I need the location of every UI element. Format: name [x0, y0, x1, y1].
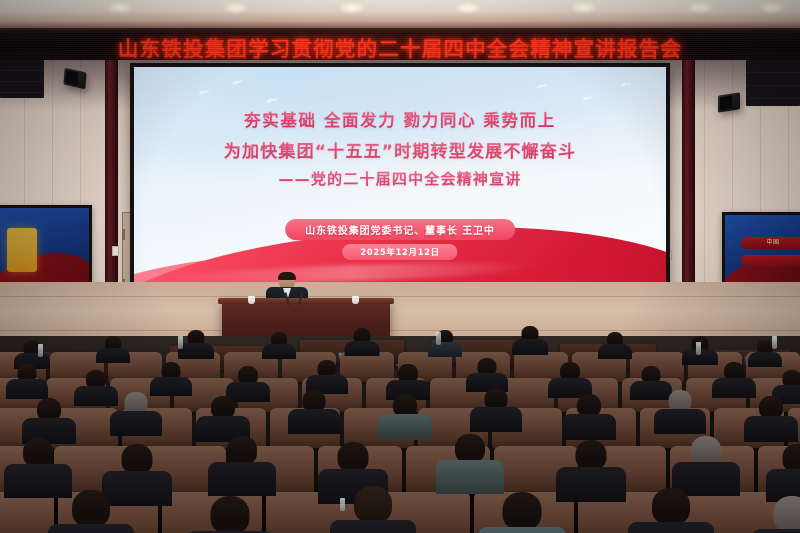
- ceiling-light: [759, 2, 785, 13]
- attendee-head: [23, 438, 53, 467]
- attendee-head: [783, 444, 800, 472]
- side-display-right-label-2: [741, 255, 800, 267]
- ceiling-light: [571, 2, 597, 13]
- attendee-head: [576, 440, 607, 470]
- attendee: [470, 388, 522, 435]
- attendee-shoulders: [178, 343, 214, 359]
- wall-speaker-right: [718, 92, 740, 112]
- dove-icon: [266, 97, 278, 104]
- attendee-shoulders: [96, 348, 130, 363]
- side-display-left-emblem: [7, 228, 37, 272]
- attendee: [110, 392, 162, 439]
- attendee-shoulders: [598, 344, 632, 359]
- attendee: [562, 394, 616, 443]
- ceiling-light: [107, 2, 133, 13]
- attendee-head: [72, 490, 110, 527]
- attendee: [48, 490, 134, 533]
- attendee-head: [691, 436, 721, 465]
- attendee: [186, 496, 274, 533]
- ceiling-light: [687, 2, 713, 13]
- ceiling-grille-left: [0, 60, 44, 98]
- attendee: [178, 330, 214, 362]
- side-display-right-label-1: 中国: [741, 237, 800, 249]
- stage-seam: [0, 296, 800, 297]
- ceiling-grille-right: [746, 60, 800, 106]
- attendee-shoulders: [470, 407, 522, 432]
- attendee-head: [503, 492, 542, 530]
- ceiling-light: [455, 2, 481, 13]
- attendee-shoulders: [478, 527, 566, 533]
- light-switch-left[interactable]: [112, 246, 119, 256]
- attendee: [556, 440, 626, 505]
- attendee-head: [652, 488, 690, 525]
- water-cup: [248, 296, 255, 304]
- dove-icon: [620, 81, 632, 88]
- attendee-shoulders: [330, 520, 416, 533]
- attendee: [436, 434, 504, 497]
- water-bottle: [772, 336, 777, 349]
- attendee: [752, 496, 800, 533]
- attendee-shoulders: [712, 378, 756, 398]
- attendee-shoulders: [262, 344, 296, 359]
- water-bottle: [178, 336, 183, 349]
- presenter-hair: [278, 272, 296, 280]
- attendee-shoulders: [288, 409, 340, 434]
- door-hinge: [122, 229, 125, 240]
- attendee: [512, 326, 548, 358]
- water-bottle: [436, 332, 441, 345]
- projection-screen: 夯实基础 全面发力 勠力同心 乘势而上 为加快集团“十五五”时期转型发展不懈奋斗…: [134, 67, 666, 287]
- ceiling-light: [339, 2, 365, 13]
- slide-speaker-credit: 山东铁投集团党委书记、董事长 王卫中: [285, 219, 515, 240]
- attendee: [96, 336, 130, 366]
- attendee-shoulders: [654, 409, 706, 434]
- attendee: [288, 390, 340, 437]
- slide-line-1: 夯实基础 全面发力 勠力同心 乘势而上: [134, 107, 666, 131]
- attendee-shoulders: [110, 411, 162, 436]
- attendee: [478, 492, 566, 533]
- attendee-shoulders: [436, 460, 504, 494]
- attendee-shoulders: [378, 414, 432, 440]
- dove-icon: [232, 79, 244, 86]
- led-banner-text: 山东铁投集团学习贯彻党的二十届四中全会精神宣讲报告会: [0, 32, 800, 62]
- dove-icon: [582, 95, 594, 102]
- attendee: [744, 396, 798, 445]
- dove-icon: [198, 89, 210, 96]
- attendee: [378, 394, 432, 443]
- slide-line-2: 为加快集团“十五五”时期转型发展不懈奋斗: [134, 137, 666, 162]
- water-bottle: [696, 342, 701, 355]
- dove-icon: [536, 83, 548, 90]
- attendee-head: [227, 436, 257, 465]
- slide-title-block: 夯实基础 全面发力 勠力同心 乘势而上 为加快集团“十五五”时期转型发展不懈奋斗…: [134, 107, 666, 189]
- attendee-shoulders: [744, 416, 798, 442]
- ceiling-light: [223, 2, 249, 13]
- slide-line-3: ——党的二十届四中全会精神宣讲: [134, 168, 666, 189]
- attendee-shoulders: [628, 522, 714, 533]
- water-cup: [352, 296, 359, 304]
- attendee: [208, 436, 276, 499]
- projection-screen-frame: 夯实基础 全面发力 勠力同心 乘势而上 为加快集团“十五五”时期转型发展不懈奋斗…: [130, 63, 670, 291]
- attendee-shoulders: [562, 414, 616, 440]
- stage-seam: [0, 330, 800, 331]
- attendee-head: [211, 496, 250, 533]
- attendee-head: [338, 442, 369, 472]
- attendee: [628, 488, 714, 533]
- attendee: [428, 330, 462, 360]
- attendee: [344, 328, 379, 359]
- water-bottle: [38, 344, 43, 357]
- led-banner: 山东铁投集团学习贯彻党的二十届四中全会精神宣讲报告会: [0, 32, 800, 62]
- attendee-shoulders: [512, 339, 548, 355]
- attendee-shoulders: [48, 524, 134, 533]
- attendee-head: [455, 434, 485, 463]
- attendee-shoulders: [344, 341, 379, 356]
- podium-desktop-edge: [218, 298, 394, 304]
- conference-hall-scene: 山东铁投集团学习贯彻党的二十届四中全会精神宣讲报告会 中国: [0, 0, 800, 533]
- slide-date: 2025年12月12日: [342, 244, 457, 260]
- attendee-head: [122, 444, 153, 474]
- attendee-shoulders: [556, 467, 626, 502]
- attendee-shoulders: [6, 379, 48, 399]
- attendee: [654, 390, 706, 437]
- attendee-head: [774, 496, 800, 532]
- attendee-head: [354, 486, 392, 523]
- attendee: [262, 332, 296, 362]
- attendee: [598, 332, 632, 362]
- attendee-shoulders: [428, 342, 462, 357]
- water-bottle: [340, 498, 345, 511]
- attendee-shoulders: [752, 529, 800, 533]
- attendee: [6, 364, 48, 402]
- attendee-shoulders: [208, 462, 276, 496]
